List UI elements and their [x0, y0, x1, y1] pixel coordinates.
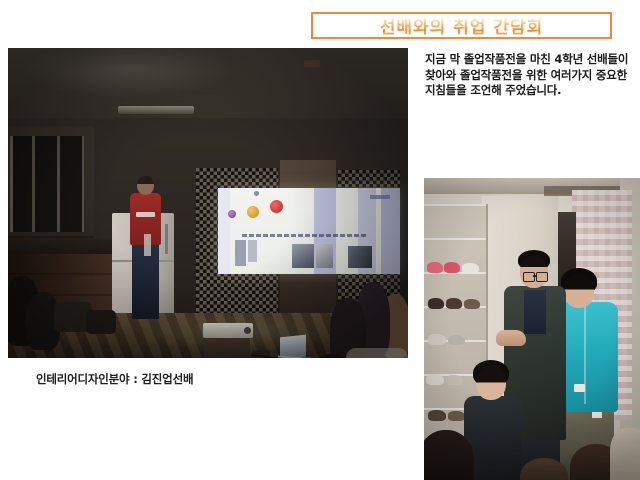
photo-vignette: [424, 178, 640, 480]
photo-caption-left: 인테리어디자인분야 : 김진업선배: [36, 371, 193, 387]
photo-vignette: [8, 48, 408, 358]
photo-hallway-talk: [424, 178, 640, 480]
title-banner: 선배와의 취업 간담회: [311, 12, 612, 39]
page-title: 선배와의 취업 간담회: [380, 13, 544, 38]
description-text: 지금 막 졸업작품전을 마친 4학년 선배들이 찾아와 졸업작품전을 위한 여러…: [425, 52, 631, 99]
photo-seminar-room: [8, 48, 408, 358]
